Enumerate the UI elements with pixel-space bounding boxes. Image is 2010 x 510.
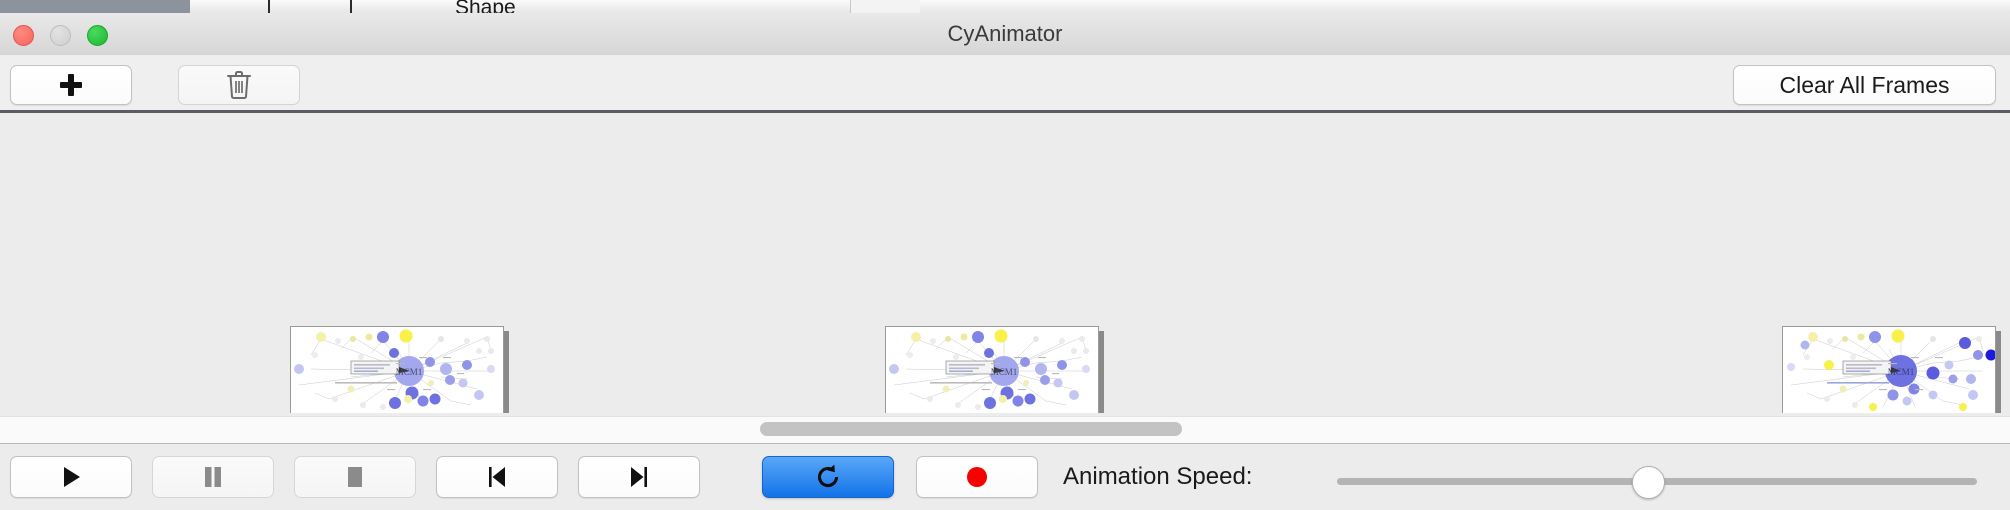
add-frame-button[interactable] xyxy=(10,65,132,105)
next-frame-button[interactable] xyxy=(578,456,700,498)
timeline-scrollbar-thumb[interactable] xyxy=(760,422,1182,436)
thumbnail-image: MCM1 xyxy=(1782,326,1996,413)
background-window-mark xyxy=(268,0,270,13)
svg-text:MCM1: MCM1 xyxy=(1888,367,1915,377)
frame-thumbnail[interactable]: MCM1 xyxy=(885,326,1104,413)
timeline-panel[interactable]: MCM1 xyxy=(0,113,2010,413)
window-title: CyAnimator xyxy=(0,13,2010,55)
title-bar[interactable]: CyAnimator xyxy=(0,13,2010,56)
background-window-mark xyxy=(350,0,352,13)
svg-text:MCM1: MCM1 xyxy=(991,367,1018,377)
record-button[interactable] xyxy=(916,456,1038,498)
pause-icon xyxy=(201,464,225,490)
delete-frame-button[interactable] xyxy=(178,65,300,105)
svg-text:MCM1: MCM1 xyxy=(396,367,423,377)
frame-thumbnail[interactable]: MCM1 xyxy=(1782,326,2001,413)
background-window-dark-region xyxy=(0,0,190,13)
loop-icon xyxy=(814,463,842,491)
trash-icon xyxy=(226,70,252,100)
thumbnail-image: MCM1 xyxy=(290,326,504,413)
plus-icon xyxy=(59,73,83,97)
previous-frame-button[interactable] xyxy=(436,456,558,498)
background-window-segment xyxy=(660,0,851,13)
playback-bar: Animation Speed: xyxy=(0,443,2010,510)
clear-all-frames-label: Clear All Frames xyxy=(1780,72,1950,99)
stop-icon xyxy=(343,464,367,490)
toolbar: Clear All Frames xyxy=(0,55,2010,112)
network-graph-a: MCM1 xyxy=(886,327,1098,413)
background-window-strip: Shape xyxy=(0,0,2010,13)
skip-back-icon xyxy=(485,464,509,490)
background-window-label: Shape xyxy=(455,0,516,13)
loop-button[interactable] xyxy=(762,456,894,498)
clear-all-frames-button[interactable]: Clear All Frames xyxy=(1733,65,1996,105)
play-button[interactable] xyxy=(10,456,132,498)
animation-speed-slider-thumb[interactable] xyxy=(1632,466,1665,499)
animation-speed-label: Animation Speed: xyxy=(1063,456,1252,498)
network-graph-b: MCM1 xyxy=(1783,327,1995,413)
background-window-segment xyxy=(250,0,431,13)
background-window-segment xyxy=(920,0,2010,13)
play-icon xyxy=(58,464,84,490)
background-window-segment xyxy=(190,0,251,13)
cyanimator-window: Shape CyAnimator Clear All Frames xyxy=(0,0,2010,510)
pause-button[interactable] xyxy=(152,456,274,498)
skip-forward-icon xyxy=(627,464,651,490)
thumbnail-image: MCM1 xyxy=(885,326,1099,413)
network-graph-a: MCM1 xyxy=(291,327,503,413)
stop-button[interactable] xyxy=(294,456,416,498)
record-icon xyxy=(964,464,990,490)
frame-thumbnail[interactable]: MCM1 xyxy=(290,326,509,413)
